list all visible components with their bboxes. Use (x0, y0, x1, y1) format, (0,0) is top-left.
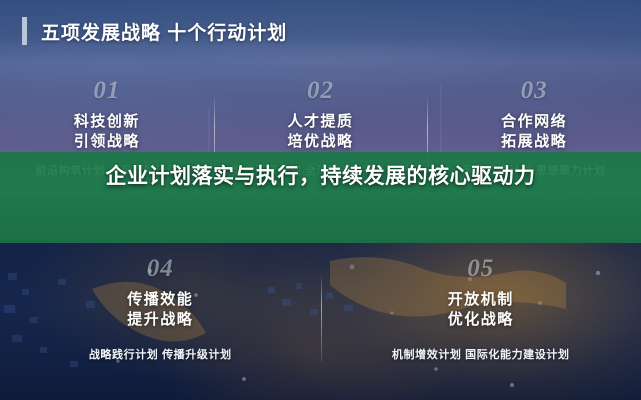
strategy-title-line2: 引领战略 (74, 132, 140, 152)
strategy-title-line2: 优化战略 (448, 310, 514, 330)
strategy-number: 05 (467, 256, 494, 281)
strategy-title: 传播效能 提升战略 (127, 290, 193, 330)
strategy-title-line2: 提升战略 (127, 310, 193, 330)
infographic-poster: 五项发展战略 十个行动计划 01 科技创新 引领战略 前沿构筑计划 交叉引领计划… (0, 0, 641, 400)
strategy-number: 03 (521, 78, 548, 103)
strategy-title-line1: 人才提质 (288, 112, 354, 132)
strategy-title: 合作网络 拓展战略 (501, 112, 567, 152)
header-bar: 五项发展战略 十个行动计划 (0, 0, 641, 62)
strategy-title-line2: 拓展战略 (501, 132, 567, 152)
page-title: 五项发展战略 十个行动计划 (41, 18, 287, 45)
caption-text: 企业计划落实与执行，持续发展的核心驱动力 (0, 162, 641, 192)
strategy-number: 04 (147, 256, 174, 281)
strategy-number: 02 (307, 78, 334, 103)
strategy-card-05[interactable]: 05 开放机制 优化战略 机制增效计划 国际化能力建设计划 (321, 252, 641, 382)
strategy-row-bottom: 04 传播效能 提升战略 战略践行计划 传播升级计划 05 开放机制 优化战略 … (0, 252, 641, 382)
strategy-number: 01 (93, 78, 120, 103)
strategy-title-line1: 合作网络 (501, 112, 567, 132)
strategy-plans: 机制增效计划 国际化能力建设计划 (392, 346, 570, 362)
strategy-title-line1: 科技创新 (74, 112, 140, 132)
strategy-title-line1: 开放机制 (448, 290, 514, 310)
strategy-title-line2: 培优战略 (288, 132, 354, 152)
header-accent-bar (22, 17, 27, 45)
strategy-plans: 战略践行计划 传播升级计划 (89, 346, 232, 362)
strategy-title: 开放机制 优化战略 (448, 290, 514, 330)
strategy-title: 人才提质 培优战略 (288, 112, 354, 152)
strategy-card-04[interactable]: 04 传播效能 提升战略 战略践行计划 传播升级计划 (0, 252, 321, 382)
strategy-title: 科技创新 引领战略 (74, 112, 140, 152)
strategy-title-line1: 传播效能 (127, 290, 193, 310)
